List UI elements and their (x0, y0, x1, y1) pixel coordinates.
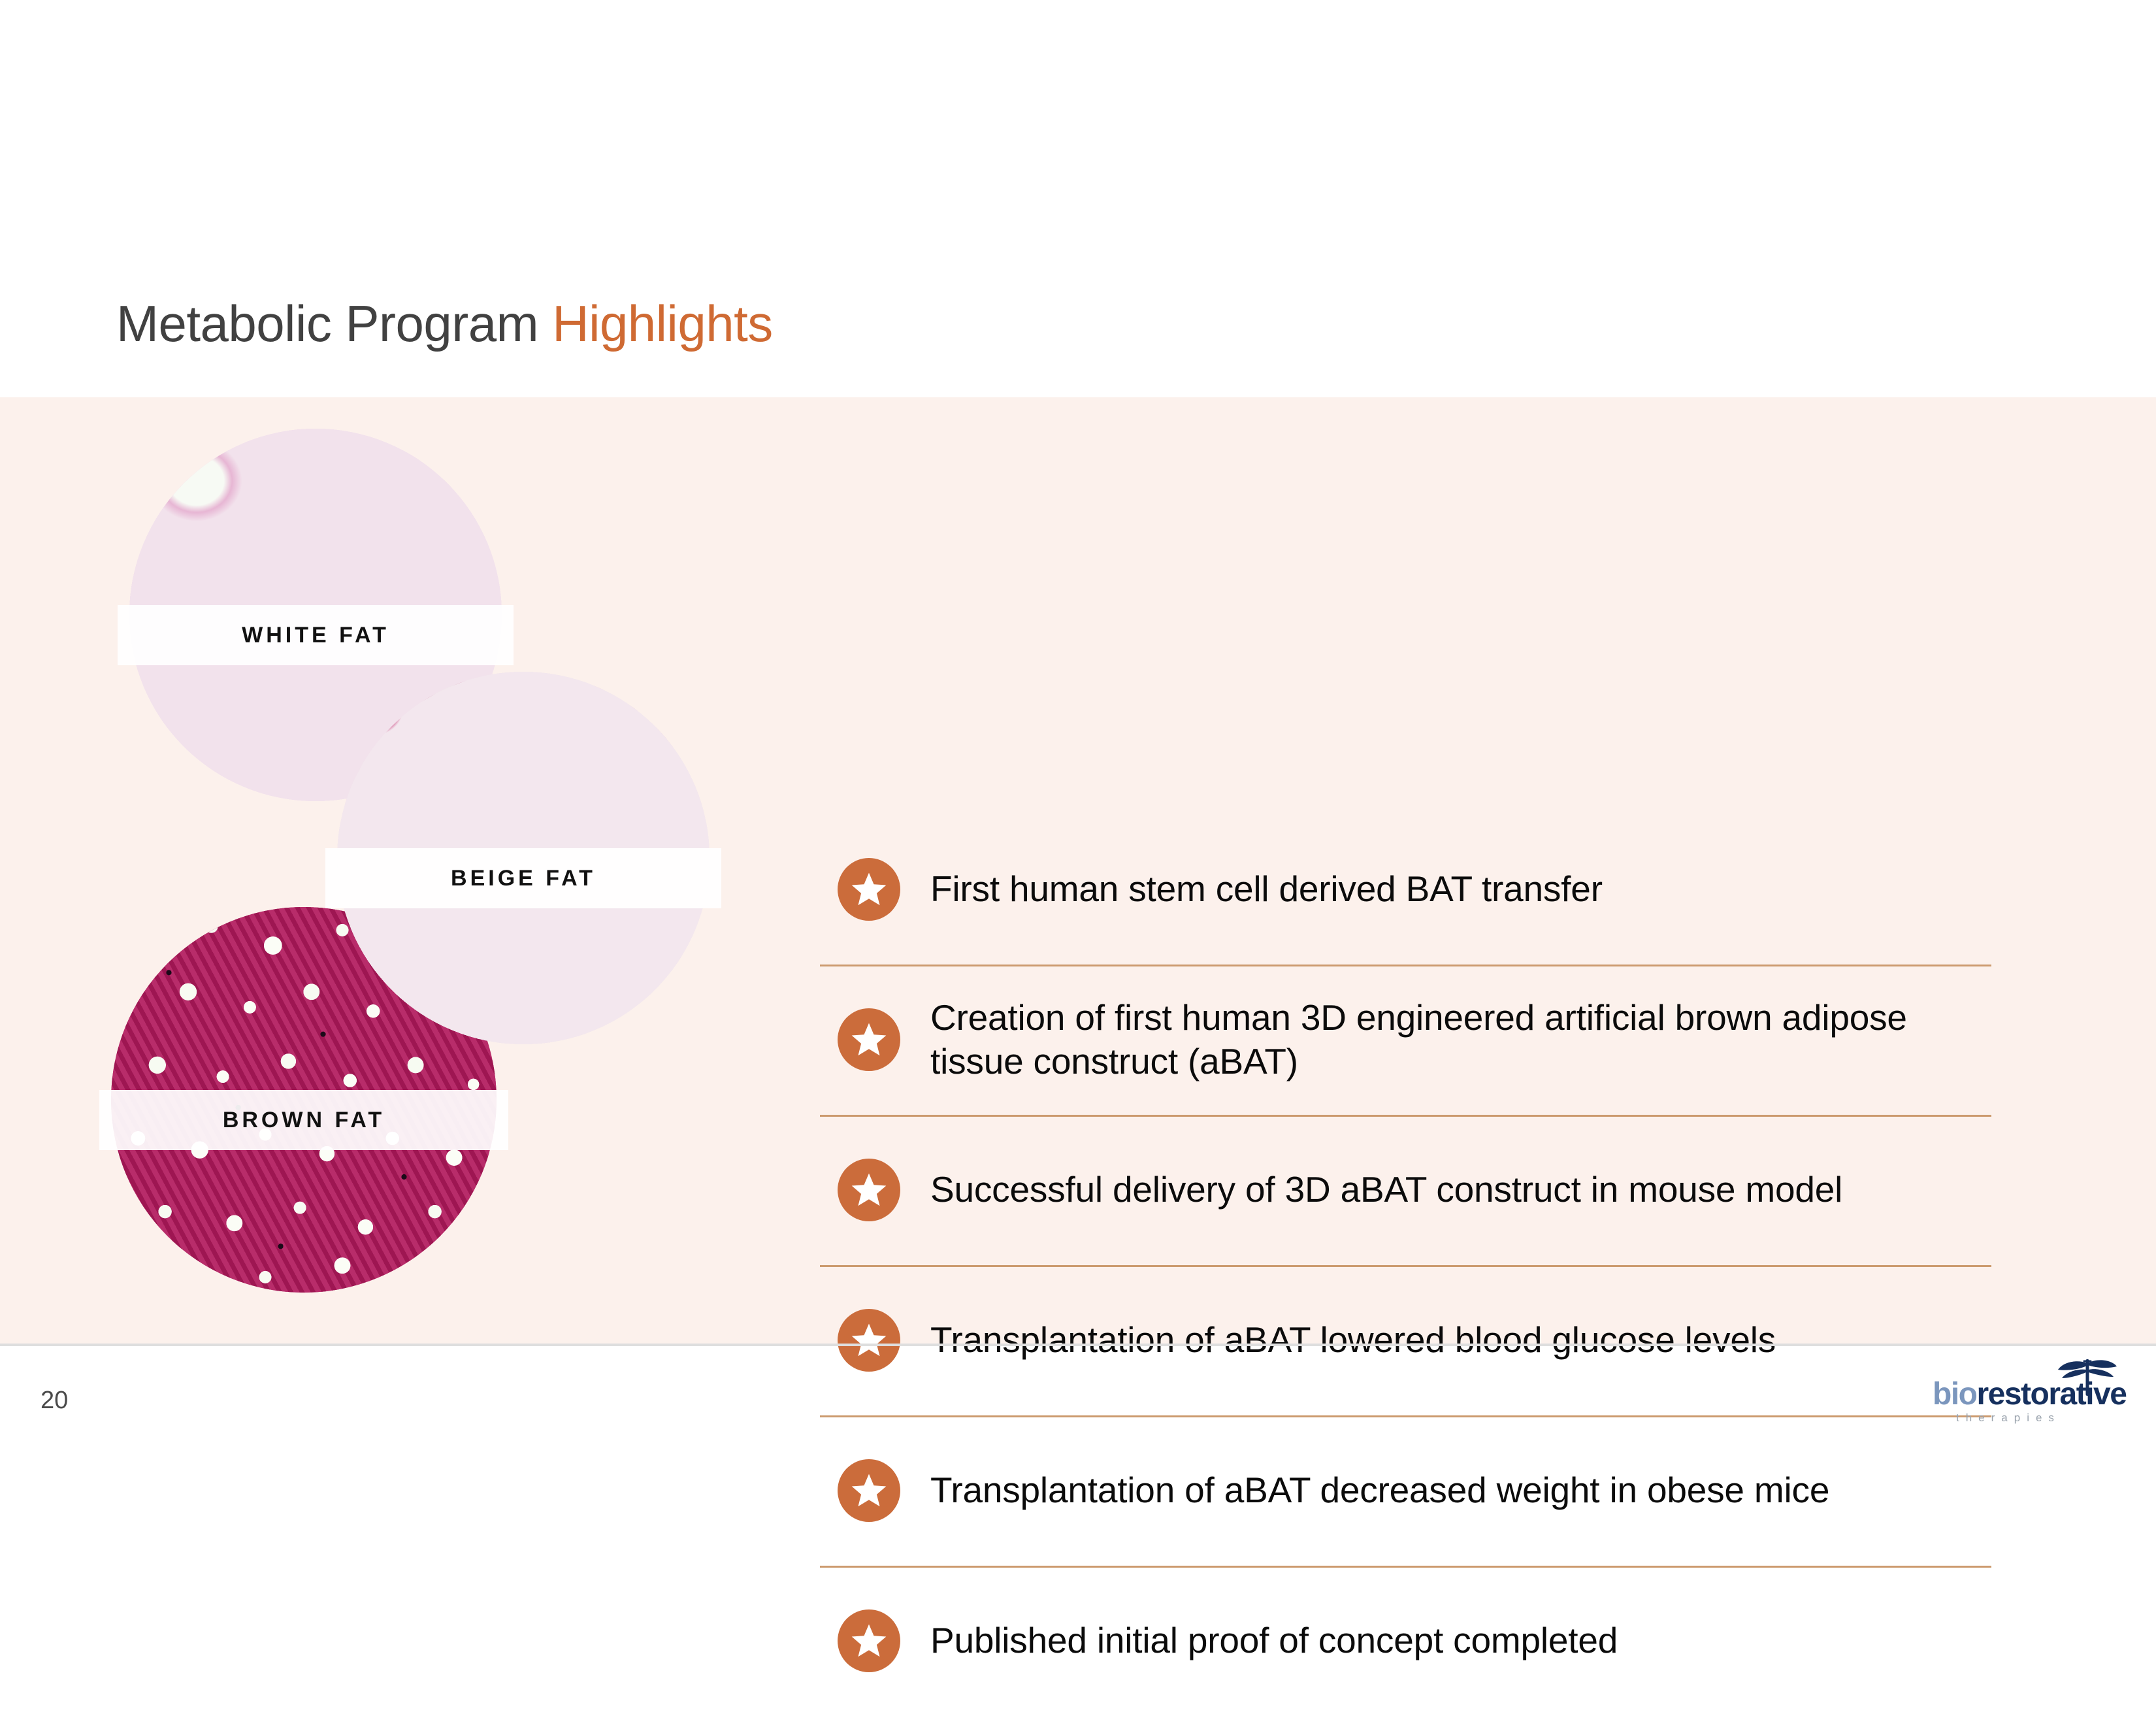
logo-tagline: therapies (1956, 1411, 2061, 1425)
highlight-text: Published initial proof of concept compl… (930, 1619, 1618, 1662)
page-title-accent: Highlights (552, 295, 773, 352)
highlight-item: Creation of first human 3D engineered ar… (820, 965, 1993, 1115)
page-title: Metabolic Program Highlights (116, 288, 1815, 359)
highlight-text: Transplantation of aBAT lowered blood gl… (930, 1318, 1776, 1362)
star-icon (838, 858, 900, 921)
star-icon (838, 1459, 900, 1522)
dragonfly-icon (2051, 1357, 2123, 1397)
white-fat-label-band: WHITE FAT (118, 605, 514, 665)
highlight-item: First human stem cell derived BAT transf… (820, 814, 1993, 965)
highlight-text: First human stem cell derived BAT transf… (930, 867, 1603, 911)
star-icon (838, 1159, 900, 1221)
highlights-list: First human stem cell derived BAT transf… (820, 814, 1993, 1716)
highlight-item: Published initial proof of concept compl… (820, 1566, 1993, 1716)
page-title-main: Metabolic Program (116, 295, 552, 352)
company-logo: biorestorative therapies (1933, 1357, 2129, 1428)
highlight-text: Successful delivery of 3D aBAT construct… (930, 1168, 1842, 1212)
star-icon (838, 1008, 900, 1071)
highlight-item: Transplantation of aBAT lowered blood gl… (820, 1265, 1993, 1415)
brown-fat-label-band: BROWN FAT (99, 1090, 508, 1150)
logo-word-bio: bio (1933, 1377, 1976, 1411)
highlight-text: Creation of first human 3D engineered ar… (930, 996, 1993, 1083)
highlight-item: Transplantation of aBAT decreased weight… (820, 1415, 1993, 1566)
white-fat-label: WHITE FAT (242, 623, 389, 648)
highlight-item: Successful delivery of 3D aBAT construct… (820, 1115, 1993, 1265)
slide-canvas: Metabolic Program Highlights WHITE FAT B… (0, 0, 2156, 1666)
star-icon (838, 1609, 900, 1672)
highlight-text: Transplantation of aBAT decreased weight… (930, 1468, 1829, 1512)
beige-fat-label: BEIGE FAT (451, 866, 596, 891)
content-panel: WHITE FAT BEIGE FAT BROWN FAT (0, 397, 2156, 1344)
brown-fat-label: BROWN FAT (223, 1108, 385, 1133)
page-number: 20 (41, 1387, 68, 1415)
beige-fat-label-band: BEIGE FAT (325, 848, 721, 908)
star-icon (838, 1309, 900, 1372)
footer-divider (0, 1344, 2156, 1346)
